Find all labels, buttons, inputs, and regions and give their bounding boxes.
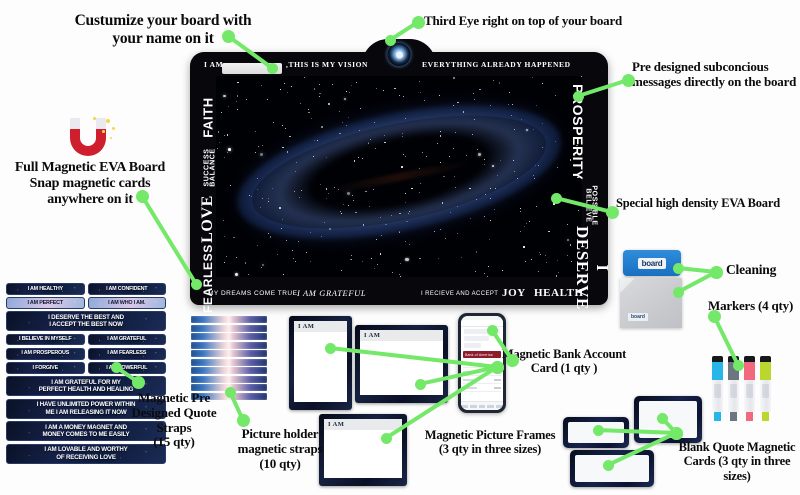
board-word-dreams: MY DREAMS COME TRUE [208,290,297,297]
leader-dot [506,354,519,367]
leader-dot [622,74,635,87]
callout-picture-frames: Magnetic Picture Frames (3 qty in three … [414,428,566,457]
cleaning-cloth: board [620,278,682,328]
leader-dot [237,414,250,427]
third-eye-icon [388,43,411,66]
board-word-faith: FAITH [201,94,216,142]
leader-dot [132,376,145,389]
marker-barrel-color [760,362,771,380]
phone-chip [464,343,481,348]
callout-quote-straps: Magnetic Pre Designed Quote Straps (15 q… [118,391,230,450]
leader-dot [412,16,425,29]
board-i-am-label: I AM [204,60,223,69]
marker-barrel-color [712,362,723,380]
frame-iam-label: I AM [294,321,347,332]
galaxy-artwork [216,76,582,277]
callout-subconscious: Pre designed subconcious messages direct… [632,60,800,90]
marker[interactable] [712,356,723,424]
callout-eva-density: Special high density EVA Board [616,196,800,210]
leader-dot [673,263,684,274]
quote-strap[interactable]: I AM HEALTHY [6,283,85,295]
callout-magnetic-board: Full Magnetic EVA Board Snap magnetic ca… [6,160,174,208]
vision-board: I AM ,THIS IS MY VISION EVERYTHING ALREA… [190,52,608,305]
leader-dot [487,325,498,336]
picture-holder-strap[interactable] [191,333,267,340]
quote-strap-row: I FORGIVEI AM POWERFUL [6,362,166,376]
frame-window [360,341,443,395]
board-word-joy: JOY [502,287,526,299]
leader-dot [603,460,614,471]
marker[interactable] [744,356,755,424]
board-vision-suffix: ,THIS IS MY VISION [286,60,368,69]
quote-strap-row: I AM PERFECTI AM WHO I AM. [6,297,166,311]
callout-picture-straps: Picture holder magnetic straps (10 qty) [228,427,332,471]
cloth-fold [620,278,635,293]
leader-dot [191,279,202,290]
phone-chip [464,336,489,341]
board-word-health: HEALTH [534,287,584,299]
leader-dot [381,433,392,444]
bank-name-label: Bank of America [463,351,501,358]
leader-dot [606,206,619,219]
marker-nib [714,412,721,421]
leader-dot [111,362,122,373]
quote-strap[interactable]: I AM CONFIDENT [88,283,167,295]
marker-nib [746,412,753,421]
picture-holder-strap[interactable] [191,342,267,349]
picture-frame-wide: I AM [355,325,448,403]
quote-strap-row: I AM PROSPEROUSI AM FEARLESS [6,348,166,362]
leader-dot [593,425,604,436]
quote-strap[interactable]: I AM FEARLESS [88,348,167,360]
picture-holder-strap[interactable] [191,359,267,366]
leader-dot [385,35,396,46]
marker-body [760,380,771,412]
marker-nib [762,412,769,421]
frame-window [294,332,347,402]
quote-strap-row: I BELIEVE IN MYSELFI AM GRATEFUL [6,334,166,348]
leader-dot [415,379,426,390]
picture-frame-tall: I AM [289,316,352,410]
leader-dot [670,427,683,440]
marker-body [712,380,723,412]
marker-barrel-color [744,362,755,380]
picture-holder-strap[interactable] [191,367,267,374]
markers-group [712,356,786,424]
quote-strap[interactable]: I DESERVE THE BEST AND I ACCEPT THE BEST… [6,311,166,331]
marker-nib [730,412,737,421]
quote-strap[interactable]: I BELIEVE IN MYSELF [6,334,85,346]
leader-dot [573,91,584,102]
marker-body [744,380,755,412]
leader-dot [225,387,236,398]
quote-strap-row: I AM HEALTHYI AM CONFIDENT [6,283,166,297]
marker-body [728,380,739,412]
leader-dot [325,343,336,354]
board-word-recieve: I RECIEVE AND ACCEPT [421,291,498,297]
callout-markers: Markers (4 qty) [708,299,800,314]
leader-dot [673,287,684,298]
eraser-brand-label: board [638,258,667,269]
phone-tab-bar [461,401,503,410]
frame-iam-label: I AM [324,419,402,430]
board-eraser: board [623,250,681,276]
leader-dot [708,310,721,323]
quote-strap[interactable]: I AM PROSPEROUS [6,348,85,360]
leader-dot [657,413,668,424]
cloth-brand-label: board [628,313,648,321]
leader-dot [551,193,562,204]
callout-customize-name: Custumize your board with your name on i… [48,12,278,47]
leader-dot [222,30,235,43]
frame-iam-label: I AM [360,330,443,341]
picture-holder-strap[interactable] [191,316,267,323]
board-everything-happened: EVERYTHING ALREADY HAPPENED [422,60,571,69]
board-word-balance: BALANCE [210,146,217,190]
picture-holder-strap[interactable] [191,376,267,383]
callout-cleaning: Cleaning [726,262,800,277]
leader-dot [267,63,278,74]
marker[interactable] [760,356,771,424]
quote-strap[interactable]: I AM GRATEFUL [88,334,167,346]
quote-strap[interactable]: I AM WHO I AM. [88,297,167,309]
leader-dot [491,361,504,374]
infographic-canvas: I AM ,THIS IS MY VISION EVERYTHING ALREA… [0,0,800,495]
leader-dot [136,190,149,203]
quote-strap[interactable]: I FORGIVE [6,362,85,374]
callout-blank-cards: Blank Quote Magnetic Cards (3 qty in thr… [674,440,800,483]
picture-holder-strap[interactable] [191,325,267,332]
leader-dot [733,360,744,371]
leader-dot [710,266,723,279]
board-word-love: LOVE [199,193,217,245]
callout-third-eye: Third Eye right on top of your board [424,14,754,29]
picture-frame-medium: I AM [319,414,407,486]
picture-holder-strap[interactable] [191,350,267,357]
quote-strap[interactable]: I AM PERFECT [6,297,85,309]
board-word-grateful: I AM GRATEFUL [297,288,366,298]
board-word-fearless: FEARLESS [201,249,215,313]
